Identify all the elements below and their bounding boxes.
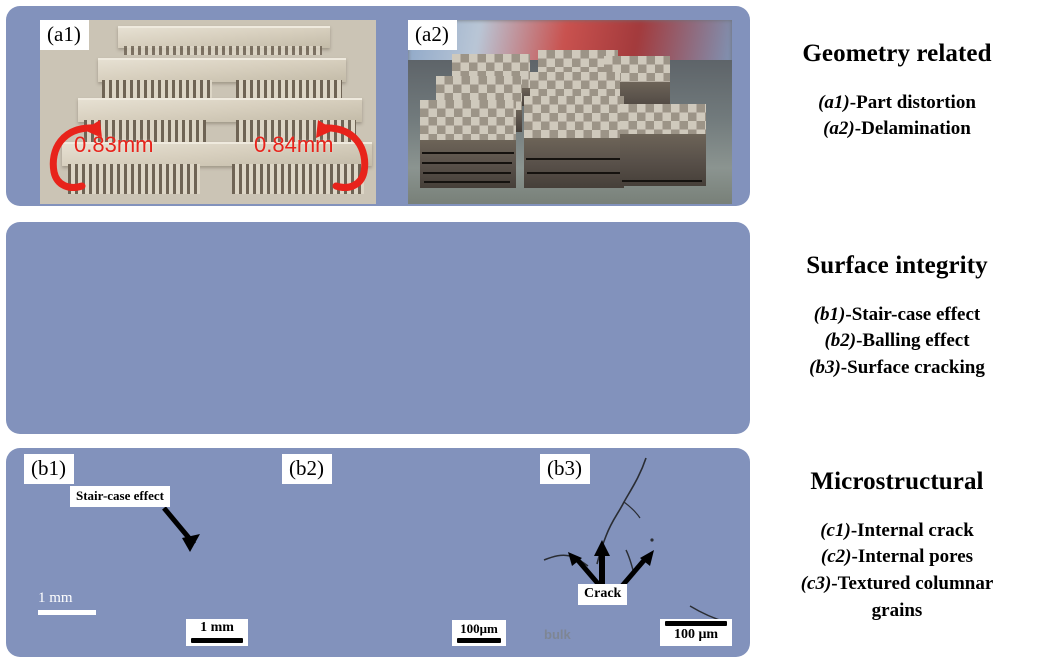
list-item: (c2)-Internal pores — [756, 544, 1038, 571]
b1-callout-stair-case: Stair-case effect — [70, 486, 170, 507]
b3-scale-bar-box-text: 100 μm — [674, 627, 718, 642]
panel-a2-delamination[interactable]: (a2) — [408, 20, 732, 204]
panel-label-a1: (a1) — [40, 20, 89, 50]
item-tag: (c2) — [821, 546, 852, 567]
row-container-surface-integrity: Stair-case effect 1 mm 1 mm (b1) — [6, 222, 750, 434]
list-item: (a2)-Delamination — [756, 116, 1038, 143]
list-item: (a1)-Part distortion — [756, 90, 1038, 117]
b1-callout-arrow — [160, 506, 210, 558]
item-tag: (c1) — [820, 520, 851, 541]
item-desc: -Textured columnar — [831, 573, 993, 594]
a1-step-2 — [98, 58, 346, 82]
panel-label-b2: (b2) — [282, 454, 332, 484]
b1-scale-bar-box: 1 mm — [186, 619, 248, 646]
list-item: grains — [756, 598, 1038, 625]
item-tag: (a1) — [818, 92, 850, 113]
item-desc: -Stair-case effect — [845, 304, 980, 325]
a1-teeth-1 — [124, 46, 322, 55]
b3-scale-bar-box: 100 μm — [660, 619, 732, 646]
item-desc: -Internal pores — [852, 546, 974, 567]
a1-step-1 — [118, 26, 330, 48]
b1-scale-bar-inset-text: 1 mm — [38, 590, 73, 606]
item-tag: (a2) — [823, 118, 855, 139]
text-group-microstructural: Microstructural (c1)-Internal crack (c2)… — [756, 468, 1038, 625]
row-container-geometry: 0.83mm 0.84mm (a1) — [6, 6, 750, 206]
item-desc: grains — [872, 600, 923, 621]
b1-scale-bar-box-line — [191, 638, 243, 643]
a1-teeth-2a — [102, 80, 212, 98]
item-tag: (b2) — [824, 330, 856, 351]
b2-scale-bar-box-line — [457, 638, 501, 643]
b3-callout-crack: Crack — [578, 584, 627, 605]
item-desc: -Part distortion — [850, 92, 976, 113]
defect-classification-figure: 0.83mm 0.84mm (a1) — [0, 0, 1041, 663]
item-tag: (c3) — [801, 573, 832, 594]
category-title-microstructural: Microstructural — [756, 468, 1038, 496]
a1-teeth-2b — [236, 80, 342, 98]
list-item: (c1)-Internal crack — [756, 518, 1038, 545]
panel-label-b1: (b1) — [24, 454, 74, 484]
list-item: (b2)-Balling effect — [756, 328, 1038, 355]
b1-scale-bar-inset: 1 mm — [38, 590, 96, 615]
text-group-surface-integrity: Surface integrity (b1)-Stair-case effect… — [756, 252, 1038, 382]
item-list-surface-integrity: (b1)-Stair-case effect (b2)-Balling effe… — [756, 302, 1038, 383]
item-tag: (b1) — [814, 304, 846, 325]
b1-scale-bar-inset-line — [38, 610, 96, 615]
list-item: (b1)-Stair-case effect — [756, 302, 1038, 329]
a1-dimension-right: 0.84mm — [254, 132, 333, 158]
a1-dimension-left: 0.83mm — [74, 132, 153, 158]
b3-scale-bar-box-line — [665, 621, 727, 626]
item-desc: -Delamination — [855, 118, 971, 139]
panel-a1-part-distortion[interactable]: 0.83mm 0.84mm (a1) — [40, 20, 376, 204]
category-title-geometry: Geometry related — [756, 40, 1038, 68]
category-title-surface-integrity: Surface integrity — [756, 252, 1038, 280]
item-desc: -Surface cracking — [841, 357, 985, 378]
panel-label-b3: (b3) — [540, 454, 590, 484]
list-item: (c3)-Textured columnar — [756, 571, 1038, 598]
item-list-geometry: (a1)-Part distortion (a2)-Delamination — [756, 90, 1038, 144]
item-tag: (b3) — [809, 357, 841, 378]
b1-scale-bar-box-text: 1 mm — [200, 620, 234, 635]
a1-photograph: 0.83mm 0.84mm — [40, 20, 376, 204]
panel-label-a2: (a2) — [408, 20, 457, 50]
item-desc: -Internal crack — [851, 520, 974, 541]
b2-scale-bar-box: 100μm — [452, 620, 506, 646]
b2-scale-bar-box-text: 100μm — [460, 621, 498, 636]
item-desc: -Balling effect — [856, 330, 969, 351]
b3-bulk-label: bulk — [544, 627, 571, 642]
item-list-microstructural: (c1)-Internal crack (c2)-Internal pores … — [756, 518, 1038, 626]
panel-b3-surface-cracking[interactable]: Crack bulk 100 μm (b3) — [540, 454, 732, 646]
text-group-geometry: Geometry related (a1)-Part distortion (a… — [756, 40, 1038, 143]
list-item: (b3)-Surface cracking — [756, 355, 1038, 382]
